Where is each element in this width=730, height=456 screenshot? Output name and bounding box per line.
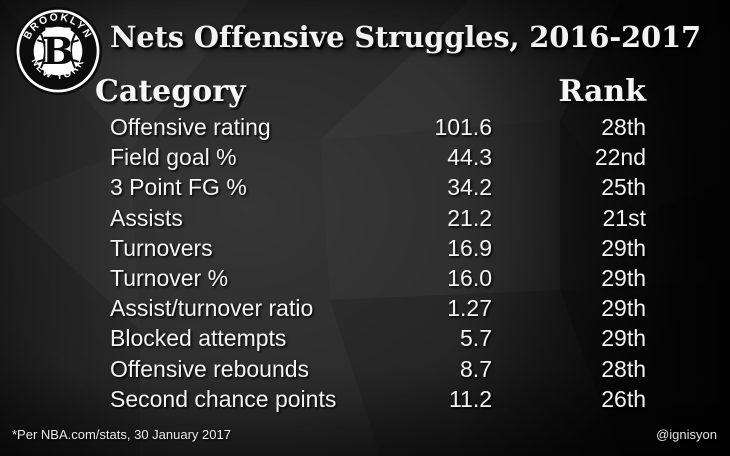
stat-rank: 21st (500, 205, 646, 232)
stat-rank: 29th (500, 235, 646, 262)
column-header-rank: Rank (480, 74, 646, 109)
stat-category: Assists (110, 205, 183, 232)
stat-value: 1.27 (300, 295, 492, 322)
page-title: Nets Offensive Struggles, 2016-2017 (110, 20, 701, 54)
stat-rank: 28th (500, 114, 646, 141)
stats-table: Category Rank Offensive rating 101.6 28t… (0, 74, 730, 416)
table-header-row: Category Rank (0, 74, 730, 114)
stat-category: Offensive rebounds (110, 356, 309, 383)
stat-rank: 29th (500, 325, 646, 352)
logo-center-letter: B (42, 29, 74, 73)
stat-value: 5.7 (300, 325, 492, 352)
source-note: *Per NBA.com/stats, 30 January 2017 (12, 427, 231, 442)
stat-category: Turnovers (110, 235, 213, 262)
table-row: Assist/turnover ratio 1.27 29th (0, 295, 730, 325)
author-handle: @ignisyon (656, 427, 717, 442)
stat-rank: 25th (500, 174, 646, 201)
stat-rank: 22nd (500, 144, 646, 171)
stat-rank: 29th (500, 295, 646, 322)
table-row: Assists 21.2 21st (0, 205, 730, 235)
stat-rank: 28th (500, 356, 646, 383)
stat-category: Offensive rating (110, 114, 271, 141)
table-row: 3 Point FG % 34.2 25th (0, 174, 730, 204)
table-row: Offensive rating 101.6 28th (0, 114, 730, 144)
stat-category: Assist/turnover ratio (110, 295, 313, 322)
table-row: Field goal % 44.3 22nd (0, 144, 730, 174)
table-row: Blocked attempts 5.7 29th (0, 325, 730, 355)
stat-category: Blocked attempts (110, 325, 286, 352)
stat-value: 44.3 (300, 144, 492, 171)
table-row: Second chance points 11.2 26th (0, 386, 730, 416)
stat-value: 11.2 (300, 386, 492, 413)
stat-rank: 26th (500, 386, 646, 413)
table-row: Turnover % 16.0 29th (0, 265, 730, 295)
stat-value: 21.2 (300, 205, 492, 232)
stat-rank: 29th (500, 265, 646, 292)
infographic-slide: BROOKLYN NEW YORK B Nets Offensive Strug… (0, 0, 730, 456)
stat-value: 8.7 (300, 356, 492, 383)
stat-category: 3 Point FG % (110, 174, 247, 201)
stat-value: 34.2 (300, 174, 492, 201)
stat-value: 16.0 (300, 265, 492, 292)
stat-value: 16.9 (300, 235, 492, 262)
stat-category: Field goal % (110, 144, 237, 171)
stat-value: 101.6 (300, 114, 492, 141)
table-row: Turnovers 16.9 29th (0, 235, 730, 265)
stat-category: Turnover % (110, 265, 228, 292)
column-header-category: Category (95, 74, 245, 109)
table-row: Offensive rebounds 8.7 28th (0, 356, 730, 386)
